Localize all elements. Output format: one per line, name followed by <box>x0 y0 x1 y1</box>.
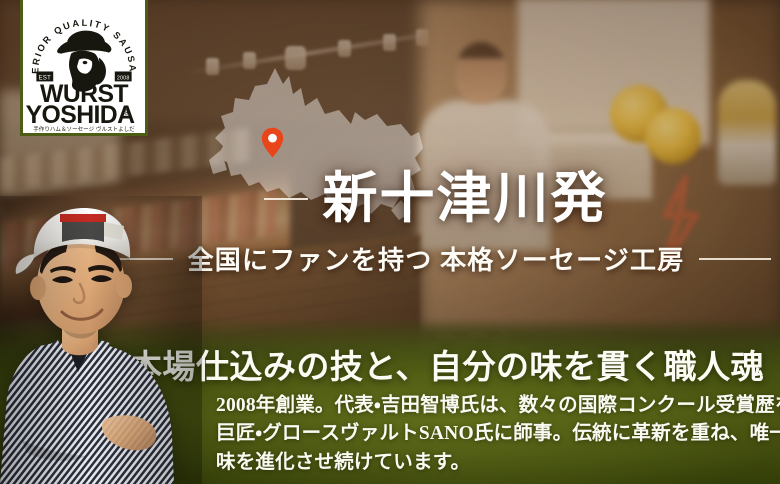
subtitle-rule-right <box>699 258 771 260</box>
map-pin-icon <box>261 127 284 158</box>
body-copy: 2008年創業。代表・吉田智博氏は、数々の国際コンクール受賞歴をもつ 巨匠・グロ… <box>216 392 764 477</box>
kicker-text: 新十津川発 <box>322 168 607 230</box>
logo-word-yoshida: YOSHIDA <box>26 102 135 129</box>
body-line: 味を進化させ続けています。 <box>216 449 764 477</box>
logo-tagline: 手作りハム＆ソーセージ ヴルストよしだ <box>33 125 135 133</box>
subtitle-text: 全国にファンを持つ 本格ソーセージ工房 <box>188 240 685 277</box>
body-line: 巨匠・グロースヴァルトSANO氏に師事。伝統に革新を重ね、唯一無二の <box>216 420 764 448</box>
body-line: 2008年創業。代表・吉田智博氏は、数々の国際コンクール受賞歴をもつ <box>216 392 764 420</box>
kicker-rule-left <box>264 198 308 200</box>
craftsman-portrait <box>0 196 202 484</box>
brand-logo[interactable]: SUPERIOR QUALITY SAUSAGES <box>20 0 148 136</box>
brand-logo-mark: SUPERIOR QUALITY SAUSAGES <box>23 4 145 133</box>
logo-badge-right: 2008 <box>115 71 132 81</box>
logo-registered-mark: ® <box>124 108 130 117</box>
logo-badge-left: EST <box>36 71 53 81</box>
hero-banner: SUPERIOR QUALITY SAUSAGES <box>0 0 780 484</box>
